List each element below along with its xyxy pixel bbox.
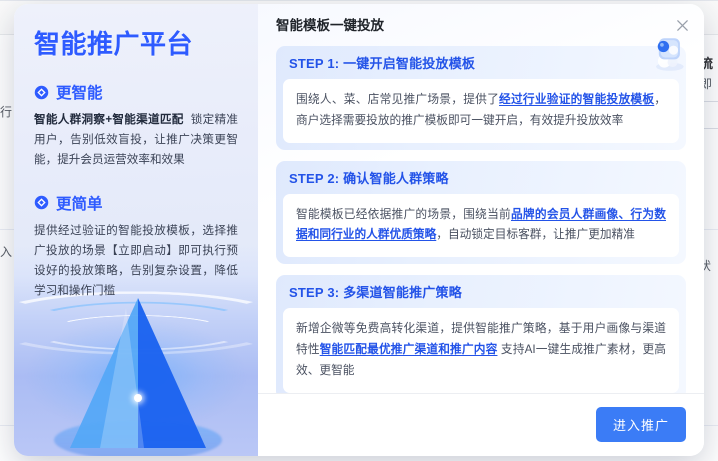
promo-feature-heading-row: 更简单	[34, 192, 238, 214]
background-text-fragment: 入	[0, 243, 12, 260]
promo-feature-heading-row: 更智能	[34, 81, 238, 103]
step-card-2: STEP 2: 确认智能人群策略 智能模板已经依据推广的场景，围绕当前品牌的会员…	[276, 161, 686, 265]
step-body-text: 智能模板已经依据推广的场景，围绕当前	[296, 208, 511, 221]
diamond-icon	[34, 195, 49, 210]
promo-feature-simple: 更简单 提供经过验证的智能投放模板，选择推广投放的场景【立即启动】即可执行预设好…	[34, 192, 238, 301]
step-card-3: STEP 3: 多渠道智能推广策略 新增企微等免费高转化渠道，提供智能推广策略，…	[276, 275, 686, 393]
step-card-1: STEP 1: 一键开启智能投放模板 围绕人、菜、店常见推广场景，提供了经过行业…	[276, 46, 686, 150]
step-body-highlight[interactable]: 经过行业验证的智能投放模板	[499, 93, 654, 106]
step-body-text: 围绕人、菜、店常见推广场景，提供了	[296, 93, 499, 106]
modal-footer: 进入推广	[258, 393, 704, 456]
pyramid-face-right	[138, 298, 206, 448]
promo-title: 智能推广平台	[34, 30, 238, 59]
promo-feature-heading: 更智能	[56, 81, 103, 103]
step-body-text: ，自动锁定目标客群，让推广更加精准	[436, 228, 635, 241]
promo-feature-smart: 更智能 智能人群洞察+智能渠道匹配 锁定精准用户，告别低效盲投，让推广决策更智能…	[34, 81, 238, 170]
diamond-icon	[34, 85, 49, 100]
step-body: 智能模板已经依据推广的场景，围绕当前品牌的会员人群画像、行为数据和同行业的人群优…	[283, 194, 679, 258]
pyramid-sheen	[100, 308, 144, 448]
page-backdrop: 流 即 伏 行 入	[0, 0, 718, 461]
step-body: 新增企微等免费高转化渠道，提供智能推广策略，基于用户画像与渠道特性智能匹配最优推…	[283, 308, 679, 392]
steps-area: STEP 1: 一键开启智能投放模板 围绕人、菜、店常见推广场景，提供了经过行业…	[258, 44, 704, 393]
pyramid-shape	[70, 298, 206, 448]
promo-panel: 智能推广平台 更智能 智能人群洞察+智能渠道匹配 锁定精准用户，告别低效盲投，让…	[14, 4, 258, 456]
step-heading: STEP 2: 确认智能人群策略	[283, 167, 679, 194]
enter-promotion-button[interactable]: 进入推广	[596, 407, 686, 442]
close-glyph	[675, 18, 690, 33]
step-body-highlight[interactable]: 智能匹配最优推广渠道和推广内容	[320, 343, 498, 356]
close-icon[interactable]	[671, 14, 693, 36]
step-heading: STEP 3: 多渠道智能推广策略	[283, 281, 679, 308]
promo-content: 智能推广平台 更智能 智能人群洞察+智能渠道匹配 锁定精准用户，告别低效盲投，让…	[14, 4, 258, 301]
promo-feature-lead: 智能人群洞察+智能渠道匹配	[34, 113, 184, 126]
modal-title: 智能模板一键投放	[276, 14, 384, 34]
promo-feature-body: 提供经过验证的智能投放模板，选择推广投放的场景【立即启动】即可执行预设好的投放策…	[34, 221, 238, 301]
step-body: 围绕人、菜、店常见推广场景，提供了经过行业验证的智能投放模板，商户选择需要投放的…	[283, 79, 679, 143]
promo-feature-heading: 更简单	[56, 192, 103, 214]
background-text-fragment: 行	[0, 103, 12, 120]
promo-feature-body: 智能人群洞察+智能渠道匹配 锁定精准用户，告别低效盲投，让推广决策更智能，提升会…	[34, 110, 238, 170]
step-heading: STEP 1: 一键开启智能投放模板	[283, 52, 679, 79]
promotion-modal: 智能推广平台 更智能 智能人群洞察+智能渠道匹配 锁定精准用户，告别低效盲投，让…	[14, 4, 704, 456]
modal-content-panel: 智能模板一键投放 STEP 1: 一键开启智能投放	[258, 4, 704, 456]
modal-header: 智能模板一键投放	[258, 4, 704, 44]
pyramid-node-dot	[134, 394, 142, 402]
